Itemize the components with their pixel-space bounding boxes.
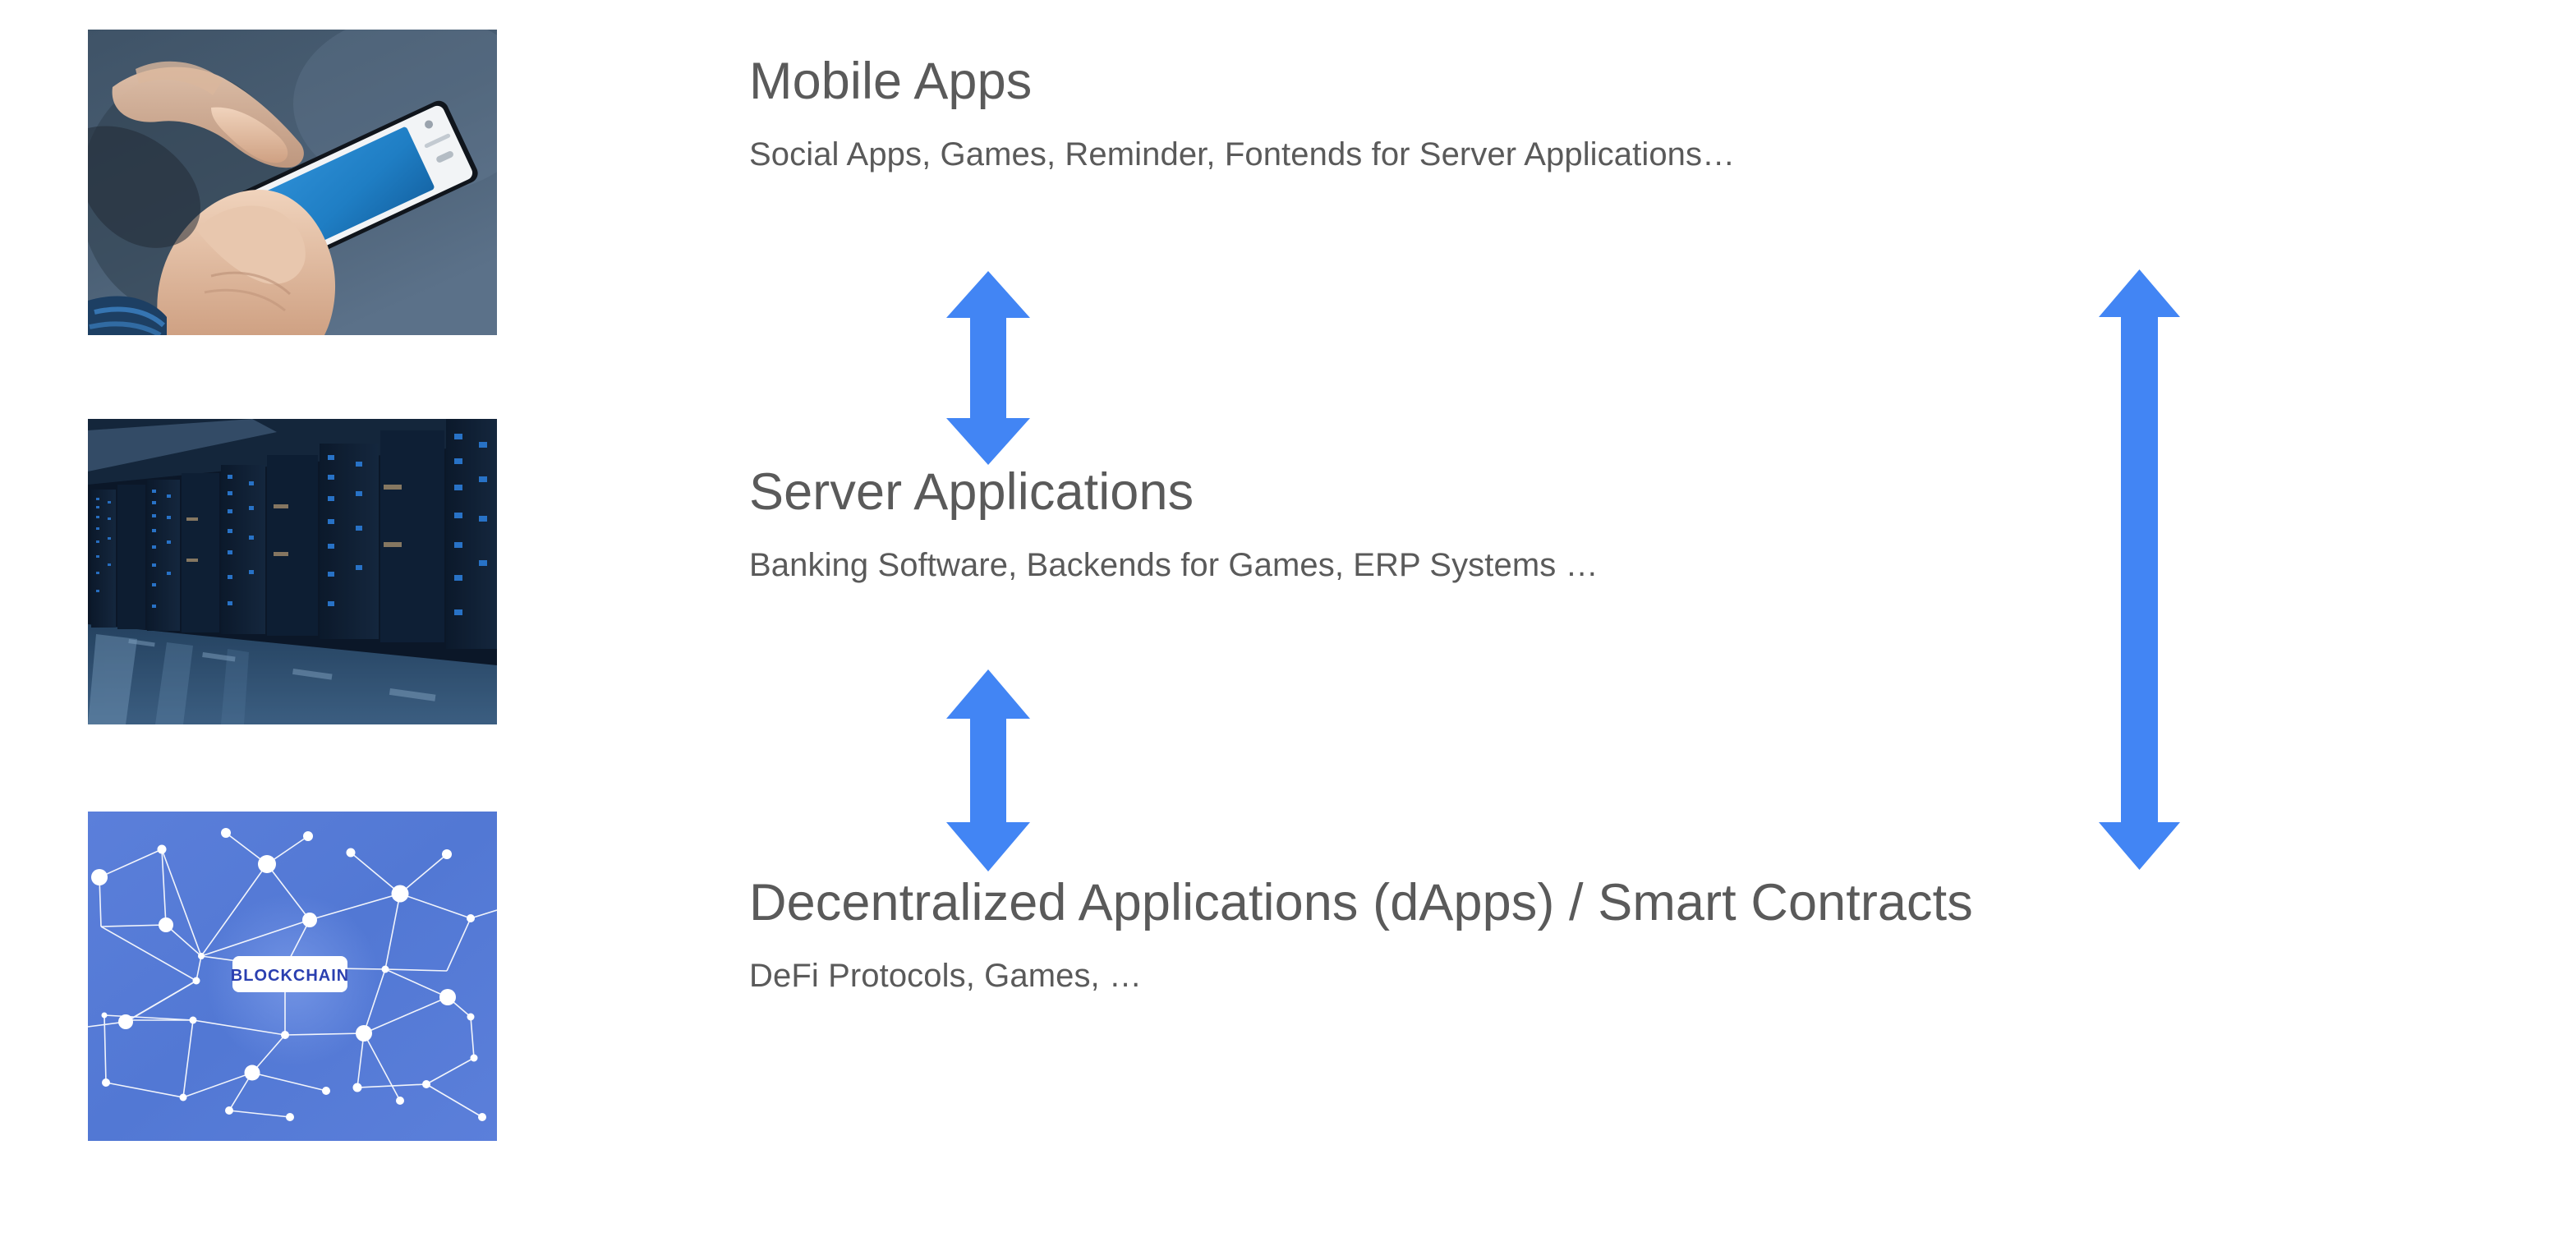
double-arrow-icon-server-dapps [946, 669, 1030, 871]
image-server-applications [88, 419, 497, 724]
row-subtitle-mobile-apps: Social Apps, Games, Reminder, Fontends f… [749, 135, 1735, 174]
mobile-photo-illustration [88, 30, 497, 335]
double-arrow-icon-mobile-dapps [2099, 269, 2180, 870]
row-mobile-apps: Mobile Apps Social Apps, Games, Reminder… [749, 51, 1735, 174]
blockchain-label-box: BLOCKCHAIN [231, 956, 349, 992]
row-title-mobile-apps: Mobile Apps [749, 51, 1735, 112]
blockchain-network-illustration: BLOCKCHAIN [88, 812, 497, 1141]
slide-canvas: BLOCKCHAIN Mobile Apps Social Apps, Game… [0, 0, 2576, 1237]
image-mobile-apps [88, 30, 497, 335]
row-decentralized-applications: Decentralized Applications (dApps) / Sma… [749, 872, 1973, 996]
double-headed-vertical-arrow-icon [946, 271, 1030, 465]
row-subtitle-server-applications: Banking Software, Backends for Games, ER… [749, 545, 1598, 585]
row-server-applications: Server Applications Banking Software, Ba… [749, 462, 1598, 585]
server-room-illustration [88, 419, 497, 724]
row-subtitle-decentralized-applications: DeFi Protocols, Games, … [749, 956, 1973, 996]
blockchain-label-text: BLOCKCHAIN [231, 967, 349, 985]
double-headed-vertical-arrow-icon [946, 669, 1030, 871]
double-arrow-icon-mobile-server [946, 271, 1030, 465]
image-blockchain-network: BLOCKCHAIN [88, 812, 497, 1141]
double-headed-vertical-arrow-icon [2099, 269, 2180, 870]
row-title-decentralized-applications: Decentralized Applications (dApps) / Sma… [749, 872, 1973, 933]
row-title-server-applications: Server Applications [749, 462, 1598, 522]
